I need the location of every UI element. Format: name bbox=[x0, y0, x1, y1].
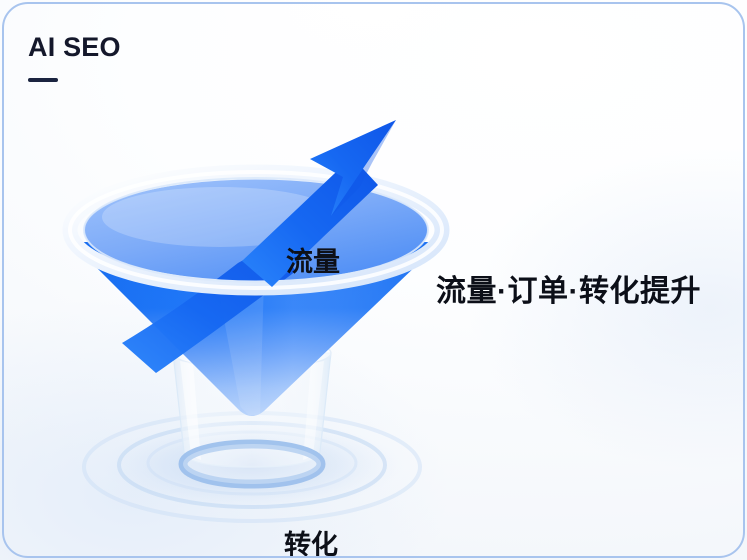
slide-canvas: AI SEO 流量·订单·转化提升 bbox=[0, 0, 747, 560]
funnel-illustration: 流量 转化 bbox=[60, 95, 460, 535]
tagline-text: 流量·订单·转化提升 bbox=[436, 277, 701, 307]
title-underline-rule bbox=[28, 78, 58, 82]
funnel-label-traffic: 流量 bbox=[286, 249, 340, 276]
page-title: AI SEO bbox=[28, 34, 121, 61]
funnel-label-conversion: 转化 bbox=[284, 532, 338, 559]
heading-block: AI SEO bbox=[28, 34, 121, 82]
